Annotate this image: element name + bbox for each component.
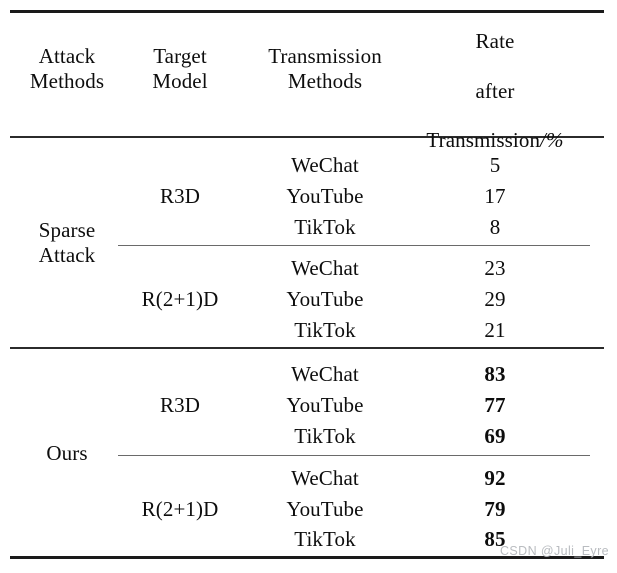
column-header-target-model-label: Target Model xyxy=(128,44,232,94)
column-header-success-rate-line-1: Success xyxy=(414,0,576,5)
table-row: WeChat xyxy=(236,359,414,389)
model-label-group-1-r2plus1d: R(2+1)D xyxy=(128,252,232,346)
table-row: WeChat xyxy=(236,463,414,493)
table-cell-rate: 69 xyxy=(414,421,576,451)
table-row: WeChat xyxy=(236,150,414,180)
table-cell-rate: 5 xyxy=(414,150,576,180)
model-label-group-1-r3d: R3D xyxy=(128,149,232,243)
table-row: WeChat xyxy=(236,253,414,283)
table-cell-rate: 17 xyxy=(414,181,576,211)
table-row: TikTok xyxy=(236,524,414,554)
model-label-group-2-r2plus1d: R(2+1)D xyxy=(128,462,232,556)
watermark: CSDN @Juli_Eyre xyxy=(500,544,609,558)
group-label-sparse-attack: Sparse Attack xyxy=(6,139,128,347)
table-cell-rate: 21 xyxy=(414,315,576,345)
group-2-model-divider xyxy=(118,455,590,456)
column-header-success-rate-line-3: after xyxy=(414,79,576,104)
table-cell-rate: 77 xyxy=(414,390,576,420)
table-cell-rate: 79 xyxy=(414,494,576,524)
column-header-success-rate-line-4-word: Transmission xyxy=(426,128,540,152)
group-1-model-divider xyxy=(118,245,590,246)
column-header-target-model: Target Model xyxy=(128,0,232,137)
table-row: YouTube xyxy=(236,284,414,314)
table-row: TikTok xyxy=(236,212,414,242)
column-header-success-rate-line-2: Rate xyxy=(414,29,576,54)
column-header-success-rate-unit: /% xyxy=(540,128,564,152)
column-header-success-rate: Success Rate after Transmission/% xyxy=(414,0,576,137)
table-cell-rate: 29 xyxy=(414,284,576,314)
table-row: YouTube xyxy=(236,494,414,524)
table-row: YouTube xyxy=(236,181,414,211)
results-table: Attack Methods Target Model Transmission… xyxy=(0,0,617,573)
table-cell-rate: 8 xyxy=(414,212,576,242)
column-header-attack-methods-label: Attack Methods xyxy=(6,44,128,94)
column-header-transmission-methods: Transmission Methods xyxy=(236,0,414,137)
table-cell-rate: 83 xyxy=(414,359,576,389)
group-label-ours: Ours xyxy=(6,349,128,557)
table-cell-rate: 92 xyxy=(414,463,576,493)
table-row: TikTok xyxy=(236,315,414,345)
table-cell-rate: 23 xyxy=(414,253,576,283)
column-header-attack-methods: Attack Methods xyxy=(6,0,128,137)
column-header-transmission-methods-label: Transmission Methods xyxy=(236,44,414,94)
table-row: TikTok xyxy=(236,421,414,451)
table-row: YouTube xyxy=(236,390,414,420)
model-label-group-2-r3d: R3D xyxy=(128,358,232,452)
